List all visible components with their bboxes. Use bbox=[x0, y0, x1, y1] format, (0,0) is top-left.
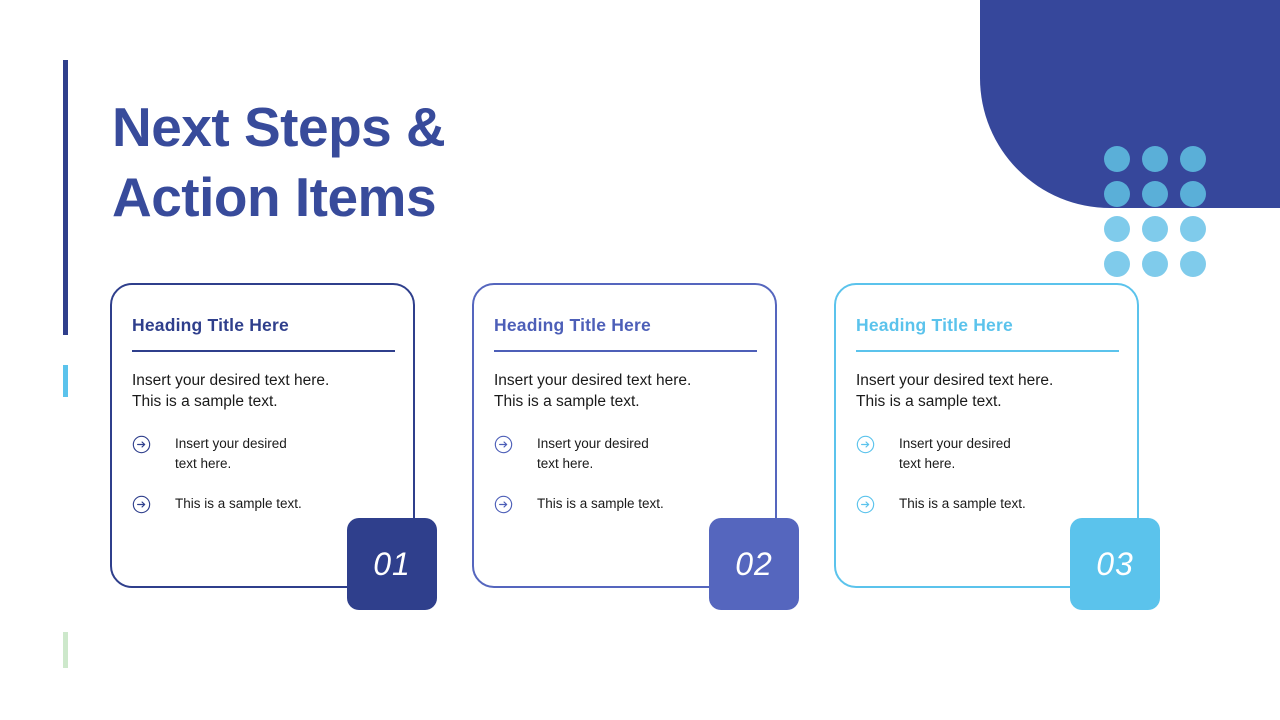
card-02-bullet-2-line-1: This is a sample text. bbox=[537, 494, 712, 514]
slide-canvas: Next Steps & Action Items Heading Title … bbox=[0, 0, 1280, 720]
card-03-bullet-1-line-2: text here. bbox=[899, 454, 1074, 474]
card-03-bullet-2-line-1: This is a sample text. bbox=[899, 494, 1074, 514]
arrow-circle-right-icon bbox=[494, 435, 513, 454]
card-03-bullet-text: Insert your desired text here. bbox=[899, 434, 1074, 473]
card-01-bullet-list: Insert your desired text here. This is a… bbox=[132, 434, 395, 513]
card-01-divider bbox=[132, 350, 395, 352]
card-01-bullet-2-line-1: This is a sample text. bbox=[175, 494, 350, 514]
card-01-body-line-1: Insert your desired text here. bbox=[132, 370, 382, 391]
card-01-body: Insert your desired text here. This is a… bbox=[132, 370, 382, 412]
card-03-body-line-1: Insert your desired text here. bbox=[856, 370, 1106, 391]
card-03-bullet-list: Insert your desired text here. This is a… bbox=[856, 434, 1119, 513]
card-01-bullet-text: Insert your desired text here. bbox=[175, 434, 350, 473]
arrow-circle-right-icon bbox=[132, 435, 151, 454]
card-01-bullet-1-line-1: Insert your desired bbox=[175, 434, 350, 454]
card-01-heading: Heading Title Here bbox=[132, 315, 395, 336]
card-02-bullet-item: This is a sample text. bbox=[494, 494, 757, 514]
badge-number-03[interactable]: 03 bbox=[1070, 518, 1160, 610]
card-02-bullet-list: Insert your desired text here. This is a… bbox=[494, 434, 757, 513]
card-02-bullet-text: This is a sample text. bbox=[537, 494, 712, 514]
card-01-bullet-text: This is a sample text. bbox=[175, 494, 350, 514]
badge-number-02[interactable]: 02 bbox=[709, 518, 799, 610]
card-03-body: Insert your desired text here. This is a… bbox=[856, 370, 1106, 412]
card-02-bullet-1-line-1: Insert your desired bbox=[537, 434, 712, 454]
card-02-heading: Heading Title Here bbox=[494, 315, 757, 336]
card-02-divider bbox=[494, 350, 757, 352]
card-02-body-line-1: Insert your desired text here. bbox=[494, 370, 744, 391]
card-03-bullet-text: This is a sample text. bbox=[899, 494, 1074, 514]
card-02-body-line-2: This is a sample text. bbox=[494, 391, 744, 412]
arrow-circle-right-icon bbox=[132, 495, 151, 514]
card-02-content: Heading Title Here Insert your desired t… bbox=[494, 315, 757, 514]
card-03-content: Heading Title Here Insert your desired t… bbox=[856, 315, 1119, 514]
card-02-bullet-text: Insert your desired text here. bbox=[537, 434, 712, 473]
card-02-bullet-item: Insert your desired text here. bbox=[494, 434, 757, 473]
card-01-bullet-item: This is a sample text. bbox=[132, 494, 395, 514]
card-01-bullet-item: Insert your desired text here. bbox=[132, 434, 395, 473]
card-03-heading: Heading Title Here bbox=[856, 315, 1119, 336]
card-03-divider bbox=[856, 350, 1119, 352]
badge-number-01[interactable]: 01 bbox=[347, 518, 437, 610]
cards-container: Heading Title Here Insert your desired t… bbox=[0, 0, 1280, 720]
card-03-body-line-2: This is a sample text. bbox=[856, 391, 1106, 412]
card-02-bullet-1-line-2: text here. bbox=[537, 454, 712, 474]
arrow-circle-right-icon bbox=[856, 435, 875, 454]
card-03-bullet-1-line-1: Insert your desired bbox=[899, 434, 1074, 454]
card-03-bullet-item: Insert your desired text here. bbox=[856, 434, 1119, 473]
card-01-body-line-2: This is a sample text. bbox=[132, 391, 382, 412]
card-01-content: Heading Title Here Insert your desired t… bbox=[132, 315, 395, 514]
arrow-circle-right-icon bbox=[494, 495, 513, 514]
arrow-circle-right-icon bbox=[856, 495, 875, 514]
card-02-body: Insert your desired text here. This is a… bbox=[494, 370, 744, 412]
card-01-bullet-1-line-2: text here. bbox=[175, 454, 350, 474]
card-03-bullet-item: This is a sample text. bbox=[856, 494, 1119, 514]
